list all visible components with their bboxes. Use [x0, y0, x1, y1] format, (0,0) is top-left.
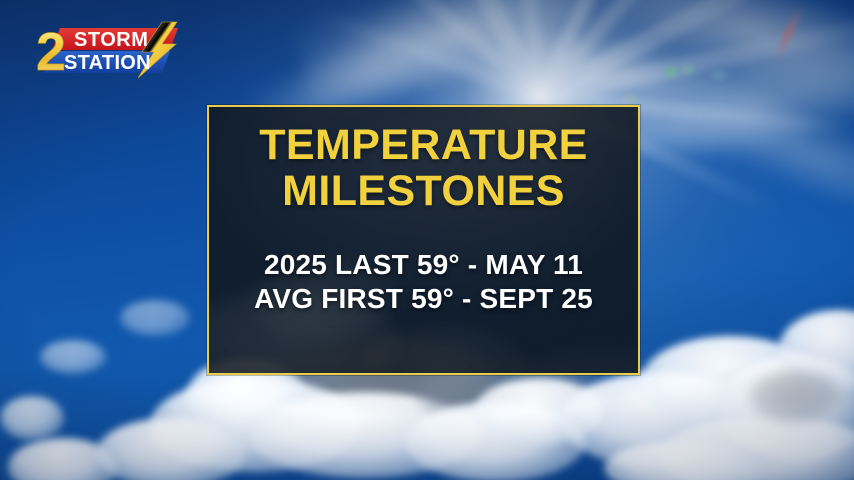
panel-content: TEMPERATURE MILESTONES 2025 LAST 59° - M… — [209, 107, 638, 373]
logo-storm-text: STORM — [74, 29, 148, 51]
logo-station-text: STATION — [64, 52, 151, 74]
panel-cloud-ghost — [359, 325, 529, 373]
weather-graphic-screen: 2 STORM STATION TEMPERATURE MILESTONES 2… — [0, 0, 854, 480]
panel-title-line-2: MILESTONES — [259, 169, 588, 215]
milestone-stats-list: 2025 LAST 59° - MAY 11 AVG FIRST 59° - S… — [254, 248, 593, 316]
milestone-stat-last: 2025 LAST 59° - MAY 11 — [254, 248, 593, 282]
station-logo-graphic: 2 STORM STATION — [34, 16, 194, 80]
station-logo: 2 STORM STATION — [34, 16, 194, 80]
panel-cloud-ghost — [509, 343, 638, 373]
panel-title: TEMPERATURE MILESTONES — [259, 123, 588, 214]
temperature-milestones-panel: TEMPERATURE MILESTONES 2025 LAST 59° - M… — [207, 105, 640, 375]
milestone-stat-first: AVG FIRST 59° - SEPT 25 — [254, 282, 593, 316]
panel-title-line-1: TEMPERATURE — [259, 123, 588, 169]
channel-number: 2 — [36, 22, 66, 80]
